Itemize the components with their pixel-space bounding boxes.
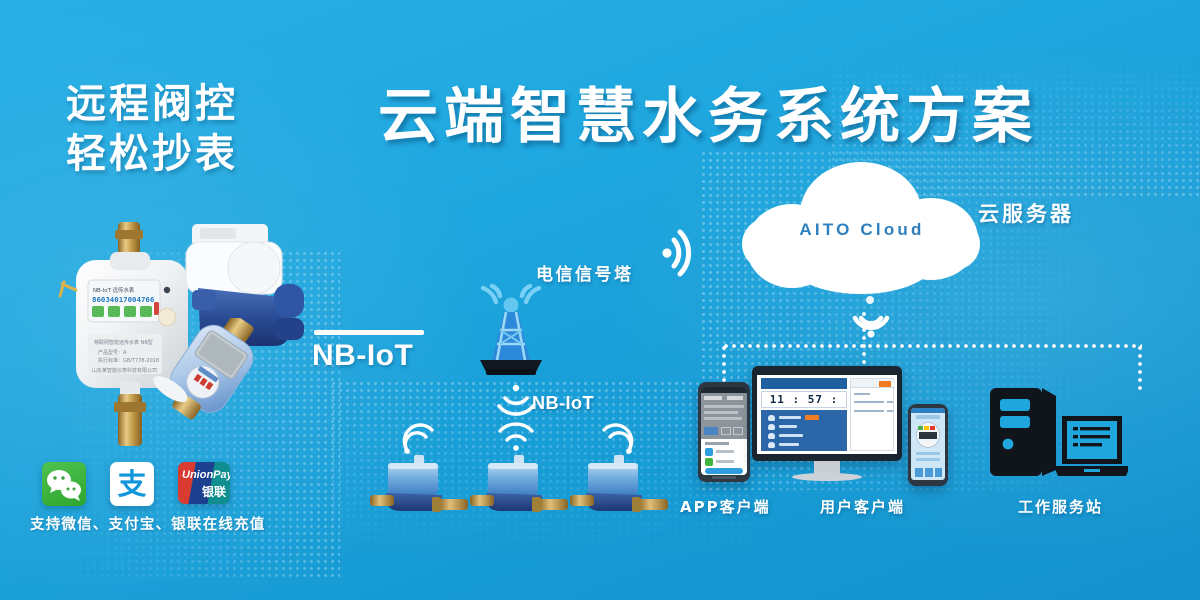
monitor-screen: 11 : 57 : 21	[757, 375, 897, 454]
unionpay-line-1: UnionPay	[182, 469, 230, 481]
signal-tower-icon	[466, 268, 556, 385]
alipay-logo: 支	[110, 462, 154, 506]
nbiot-label-main: NB-IoT	[312, 339, 413, 372]
nbiot-underline	[314, 330, 424, 335]
desktop-monitor-icon: 11 : 57 : 21	[752, 366, 902, 486]
wifi-signal-icon-cloud	[843, 300, 899, 340]
cloud-graphic: AITO Cloud	[742, 162, 982, 294]
meter-app-phone-icon	[908, 404, 948, 486]
screen-sidebar	[761, 410, 847, 451]
screen-titlebar	[761, 378, 847, 389]
svg-text:86034017004766: 86034017004766	[92, 295, 155, 304]
endpoint-label-app: APP客户端	[680, 496, 771, 517]
tower-label: 电信信号塔	[536, 260, 634, 285]
unionpay-logo: UnionPay 银联	[178, 462, 230, 504]
svg-text:NB-IoT 远传水表: NB-IoT 远传水表	[93, 286, 135, 294]
wifi-signal-icon-meter-1	[398, 424, 438, 454]
unionpay-line-2: 银联	[202, 483, 226, 500]
connector-line-to-app	[722, 344, 726, 384]
wifi-signal-icon-meter-3	[598, 424, 638, 454]
nbiot-badge-main: NB-IoT	[312, 330, 413, 373]
monitor-shell: 11 : 57 : 21	[752, 366, 902, 461]
wifi-signal-icon-nbiot	[494, 382, 538, 416]
field-smart-water-meter	[470, 455, 570, 520]
wechat-pay-logo	[42, 462, 86, 506]
screen-clock: 11 : 57 : 21	[761, 391, 847, 408]
screen-panel	[850, 378, 894, 451]
tagline: 远程阀控 轻松抄表	[66, 80, 326, 179]
meter-app-screen	[911, 408, 945, 480]
poster-canvas: 远程阀控 轻松抄表 云端智慧水务系统方案 AITO Cloud 云服务器	[0, 0, 1200, 600]
svg-text:产品型号：A: 产品型号：A	[98, 349, 127, 356]
cloud-server-label: 云服务器	[978, 198, 1074, 228]
lcd-water-meter-blue	[148, 318, 308, 473]
server-workstation-icon	[988, 386, 1128, 486]
connector-line-to-monitor	[862, 310, 866, 366]
payment-support-note: 支持微信、支付宝、银联在线充值	[30, 513, 266, 534]
tagline-line-1: 远程阀控	[66, 80, 326, 130]
wifi-signal-icon-uplink	[660, 222, 722, 284]
app-screen	[701, 387, 747, 475]
connector-line-to-workstation	[1138, 344, 1142, 392]
connector-line-horizontal	[722, 344, 1142, 348]
smartphone-icon	[698, 382, 750, 482]
cloud-label: AITO Cloud	[742, 220, 982, 240]
tagline-line-2: 轻松抄表	[66, 130, 326, 180]
nbiot-badge-small: NB-IoT	[532, 393, 594, 414]
endpoint-label-work: 工作服务站	[1018, 496, 1103, 517]
alipay-glyph: 支	[110, 462, 154, 506]
field-smart-water-meter	[370, 455, 470, 520]
endpoint-label-user: 用户客户端	[820, 496, 905, 517]
wifi-signal-icon-meter-2	[496, 420, 536, 452]
field-smart-water-meter	[570, 455, 670, 520]
monitor-base	[792, 473, 862, 481]
svg-text:物联网智能远传水表 NB型: 物联网智能远传水表 NB型	[94, 339, 153, 346]
page-title: 云端智慧水务系统方案	[378, 86, 1038, 149]
